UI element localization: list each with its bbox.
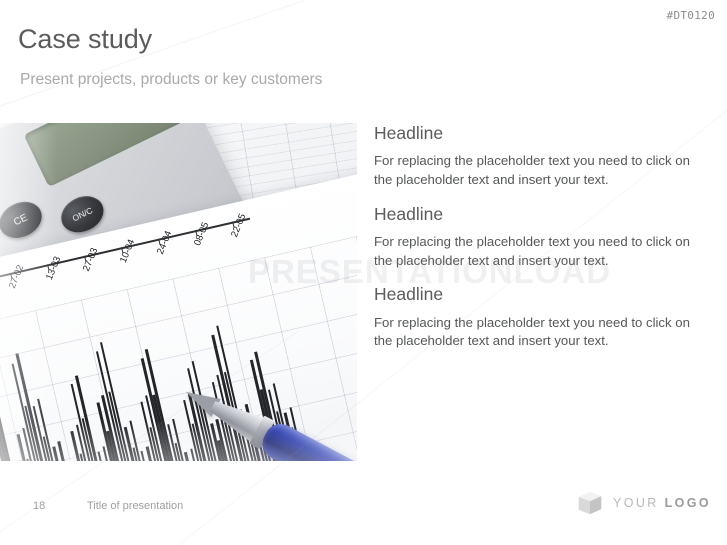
- logo: YOUR LOGO: [577, 490, 711, 516]
- logo-text-primary: YOUR: [613, 496, 659, 510]
- content-body: For replacing the placeholder text you n…: [374, 152, 710, 189]
- axis-label-date: 24-04: [155, 229, 174, 256]
- content-block: Headline For replacing the placeholder t…: [374, 124, 710, 190]
- case-study-photo: ON/C CE 8 9 6 ÷ + − 13-02 27-02 13-03 27…: [0, 123, 357, 461]
- cube-icon: [577, 490, 603, 516]
- logo-text-secondary: LOGO: [665, 496, 711, 510]
- axis-label-date: 10-04: [118, 238, 137, 265]
- axis-label-date: 13-03: [44, 255, 63, 282]
- axis-label-date: 22-05: [229, 212, 248, 239]
- slide-canvas: #DT0120 Case study Present projects, pro…: [0, 0, 727, 545]
- content-headline: Headline: [374, 285, 710, 304]
- content-body: For replacing the placeholder text you n…: [374, 314, 710, 351]
- footer-presentation-title: Title of presentation: [87, 500, 183, 512]
- logo-text: YOUR LOGO: [613, 496, 711, 510]
- page-subtitle: Present projects, products or key custom…: [20, 71, 322, 89]
- calculator-lcd-screen: [24, 123, 184, 187]
- axis-label-date: 27-02: [7, 263, 26, 290]
- footer-divider: [0, 486, 727, 487]
- page-title: Case study: [18, 24, 152, 55]
- content-body: For replacing the placeholder text you n…: [374, 233, 710, 270]
- document-code: #DT0120: [667, 9, 715, 22]
- page-number: 18: [33, 500, 45, 512]
- content-column: Headline For replacing the placeholder t…: [374, 124, 710, 351]
- calculator-key-onc: ON/C: [55, 189, 109, 239]
- axis-label-date: 08-05: [192, 221, 211, 248]
- content-headline: Headline: [374, 205, 710, 224]
- content-block: Headline For replacing the placeholder t…: [374, 205, 710, 271]
- content-headline: Headline: [374, 124, 710, 143]
- calculator-key-ce: CE: [0, 195, 48, 245]
- content-block: Headline For replacing the placeholder t…: [374, 285, 710, 351]
- axis-label-date: 27-03: [81, 246, 100, 273]
